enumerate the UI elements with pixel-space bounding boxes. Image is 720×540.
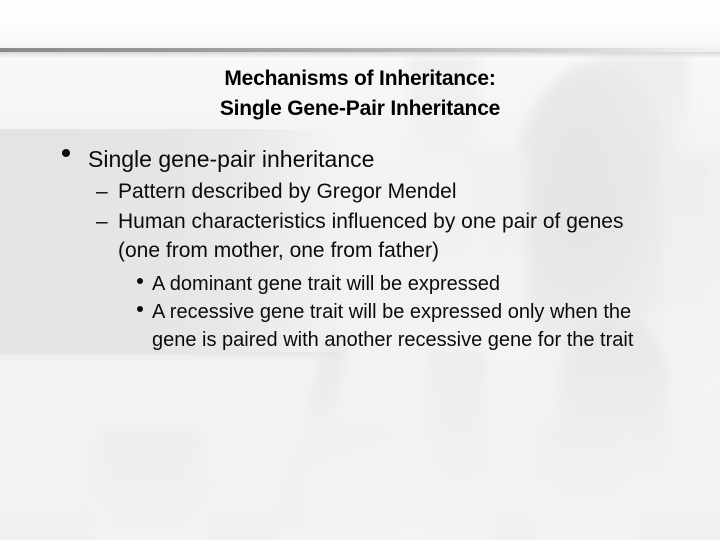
watermark-shape	[540, 420, 630, 540]
slide-title-line-2: Single Gene-Pair Inheritance	[0, 94, 720, 124]
en-dash-bullet-icon: –	[96, 207, 108, 236]
watermark-shape	[300, 418, 432, 540]
watermark-shape	[430, 350, 488, 540]
disc-bullet-icon	[137, 278, 143, 284]
header-band	[0, 0, 720, 49]
slide-title: Mechanisms of Inheritance: Single Gene-P…	[0, 64, 720, 124]
presentation-slide: Mechanisms of Inheritance: Single Gene-P…	[0, 0, 720, 540]
outline-item-level2: – Pattern described by Gregor Mendel	[0, 177, 720, 206]
outline-item-level1: Single gene-pair inheritance	[0, 144, 720, 175]
disc-bullet-icon	[62, 149, 70, 157]
disc-bullet-icon	[137, 306, 143, 312]
outline-item-level2: – Human characteristics influenced by on…	[0, 207, 720, 265]
header-divider-shadow	[0, 52, 720, 58]
watermark-shape	[96, 430, 204, 540]
slide-body-outline: Single gene-pair inheritance – Pattern d…	[0, 144, 720, 354]
outline-item-text: A dominant gene trait will be expressed	[152, 273, 500, 295]
outline-item-level3: A recessive gene trait will be expressed…	[0, 298, 720, 354]
outline-item-text: A recessive gene trait will be expressed…	[152, 301, 633, 351]
outline-item-text: Pattern described by Gregor Mendel	[118, 180, 457, 203]
outline-item-level3: A dominant gene trait will be expressed	[0, 270, 720, 298]
en-dash-bullet-icon: –	[96, 177, 108, 206]
outline-item-text: Single gene-pair inheritance	[88, 146, 374, 172]
outline-item-text: Human characteristics influenced by one …	[118, 210, 623, 262]
slide-title-line-1: Mechanisms of Inheritance:	[0, 64, 720, 94]
